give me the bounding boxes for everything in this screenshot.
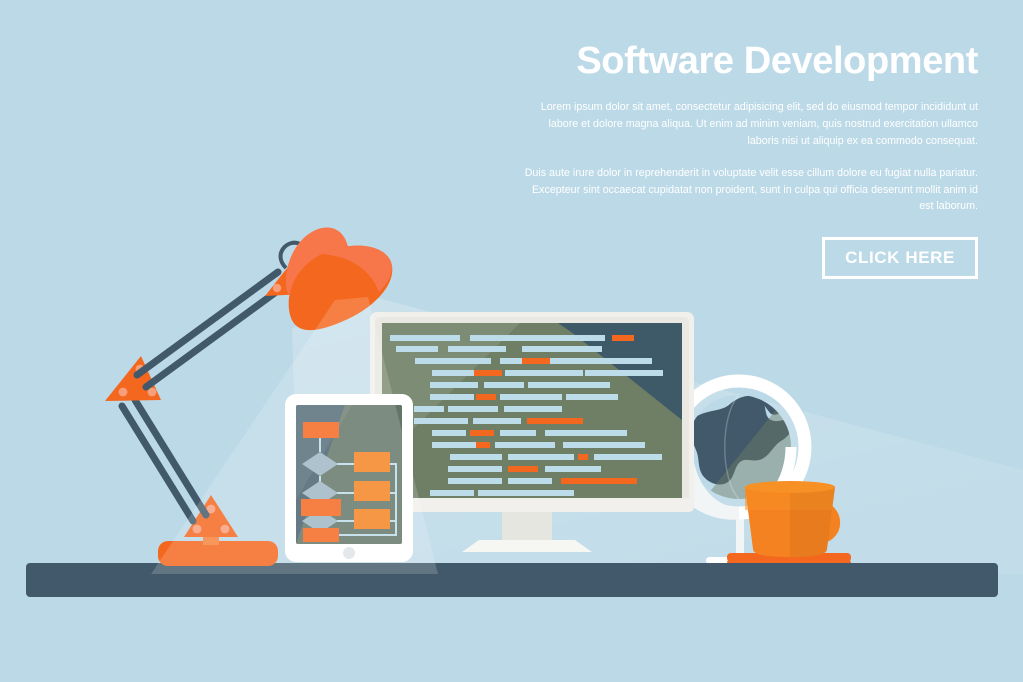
code-line-segment [563, 442, 645, 448]
page-title: Software Development [520, 42, 978, 82]
code-line-segment [473, 418, 521, 424]
illustration-canvas: Software Development Lorem ipsum dolor s… [0, 0, 1023, 682]
code-line-segment [448, 406, 498, 412]
code-line-segment [478, 490, 574, 496]
code-line-highlight [612, 335, 634, 341]
code-line-segment [528, 382, 610, 388]
lamp-arm-lower [122, 400, 206, 521]
code-line-segment [448, 466, 502, 472]
code-line-segment [448, 346, 506, 352]
lamp-arm-upper [137, 272, 287, 387]
code-line-segment [505, 370, 583, 376]
code-line-segment [508, 478, 552, 484]
code-line-segment [415, 358, 491, 364]
code-line-highlight [527, 418, 583, 424]
code-line-segment [430, 382, 478, 388]
code-line-segment [500, 430, 536, 436]
code-line-segment [390, 335, 460, 341]
code-line-segment [545, 430, 627, 436]
code-line-segment [450, 454, 502, 460]
code-line-segment [508, 454, 574, 460]
code-line-segment [430, 394, 474, 400]
code-line-segment [500, 394, 562, 400]
code-line-highlight [474, 370, 502, 376]
code-line-segment [432, 442, 476, 448]
code-line-segment [504, 406, 562, 412]
code-line-segment [552, 358, 652, 364]
code-line-highlight [508, 466, 538, 472]
code-line-highlight [561, 478, 637, 484]
code-line-highlight [522, 358, 550, 364]
code-line-segment [448, 478, 502, 484]
code-line-highlight [476, 394, 496, 400]
code-line-segment [432, 430, 466, 436]
code-line-segment [594, 454, 662, 460]
code-line-segment [545, 466, 601, 472]
code-line-segment [414, 418, 468, 424]
code-line-segment [484, 382, 524, 388]
code-line-highlight [470, 430, 494, 436]
code-line-segment [430, 490, 474, 496]
code-line-highlight [476, 442, 490, 448]
code-line-segment [566, 394, 618, 400]
code-line-highlight [578, 454, 588, 460]
hero-text-block: Software Development Lorem ipsum dolor s… [520, 42, 978, 279]
hero-paragraph-1: Lorem ipsum dolor sit amet, consectetur … [520, 99, 978, 150]
code-line-segment [495, 442, 555, 448]
code-line-segment [414, 406, 444, 412]
code-line-segment [396, 346, 438, 352]
code-line-segment [585, 370, 663, 376]
desk-lamp [105, 227, 438, 574]
click-here-button[interactable]: CLICK HERE [822, 237, 978, 279]
code-line-segment [470, 335, 605, 341]
code-line-segment [522, 346, 602, 352]
hero-paragraph-2: Duis aute irure dolor in reprehenderit i… [520, 165, 978, 216]
